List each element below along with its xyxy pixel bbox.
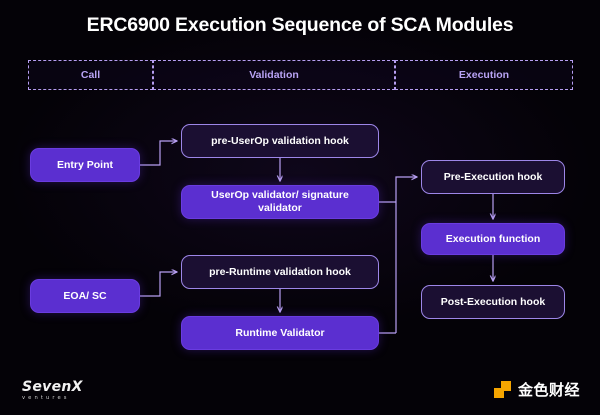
node-post-execution-hook[interactable]: Post-Execution hook: [421, 285, 565, 319]
sevenx-wordmark: SevenX: [22, 380, 83, 394]
node-eoa-sc[interactable]: EOA/ SC: [30, 279, 140, 313]
link-eoa-to-pre-runtime-hook: [140, 272, 177, 296]
node-pre-userop-validation-hook[interactable]: pre-UserOp validation hook: [181, 124, 379, 158]
phase-tab-validation: Validation: [153, 60, 395, 90]
sevenx-subtitle: ventures: [22, 396, 83, 401]
phase-label: Call: [81, 69, 100, 81]
node-pre-execution-hook[interactable]: Pre-Execution hook: [421, 160, 565, 194]
node-label: Entry Point: [57, 159, 113, 172]
node-label: UserOp validator/ signature validator: [188, 189, 372, 214]
link-entry-to-pre-userop-hook: [140, 141, 177, 165]
jinse-wordmark: 金色财经: [518, 379, 580, 400]
link-rail-to-pre-execution-hook: [396, 177, 417, 333]
node-label: Post-Execution hook: [441, 296, 545, 309]
jinse-square-icon: [494, 381, 511, 398]
node-label: pre-UserOp validation hook: [211, 135, 349, 148]
node-label: Pre-Execution hook: [444, 171, 543, 184]
node-label: pre-Runtime validation hook: [209, 266, 351, 279]
node-execution-function[interactable]: Execution function: [421, 223, 565, 255]
phase-tab-call: Call: [28, 60, 153, 90]
node-entry-point[interactable]: Entry Point: [30, 148, 140, 182]
phase-tab-execution: Execution: [395, 60, 573, 90]
node-label: EOA/ SC: [63, 290, 106, 303]
diagram-canvas: ERC6900 Execution Sequence of SCA Module…: [0, 0, 600, 415]
node-runtime-validator[interactable]: Runtime Validator: [181, 316, 379, 350]
phase-label: Execution: [459, 69, 509, 81]
sevenx-logo: SevenX ventures: [22, 380, 83, 401]
jinse-logo: 金色财经: [494, 379, 580, 400]
page-title: ERC6900 Execution Sequence of SCA Module…: [0, 14, 600, 37]
node-label: Runtime Validator: [235, 327, 324, 340]
node-label: Execution function: [446, 233, 541, 246]
phase-label: Validation: [249, 69, 299, 81]
node-pre-runtime-validation-hook[interactable]: pre-Runtime validation hook: [181, 255, 379, 289]
node-userop-validator[interactable]: UserOp validator/ signature validator: [181, 185, 379, 219]
